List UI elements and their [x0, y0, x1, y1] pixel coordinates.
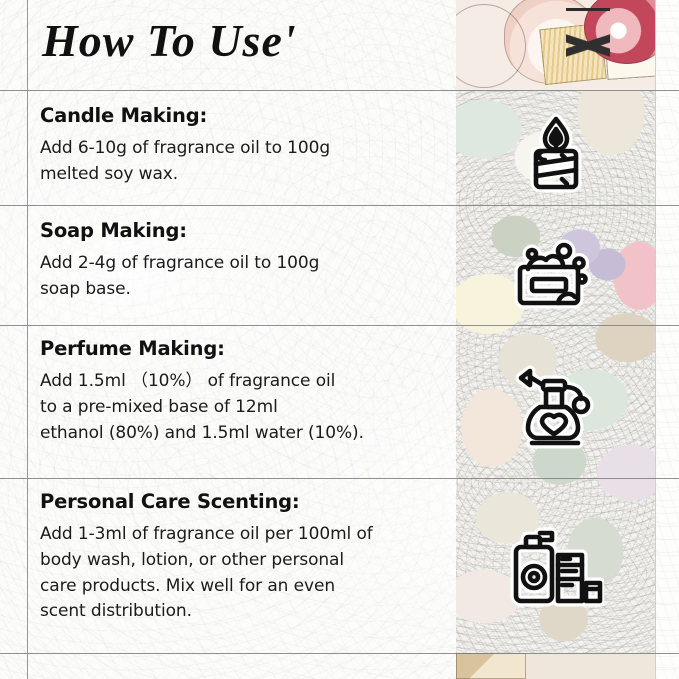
top-photo-band	[456, 0, 655, 90]
right-illustration-column	[456, 0, 655, 679]
section-candle-making: Candle Making: Add 6-10g of fragrance oi…	[40, 104, 440, 188]
section-heading: Perfume Making:	[40, 337, 440, 360]
scissors-photo	[566, 0, 610, 88]
section-personal-care-scenting: Personal Care Scenting: Add 1-3ml of fra…	[40, 490, 440, 625]
right-margin-strip	[655, 0, 679, 679]
divider-rule-1	[0, 90, 679, 91]
section-body: Add 1.5ml （10%） of fragrance oil to a pr…	[40, 369, 440, 446]
how-to-use-infographic: How To Use' Candle Making: Add 6-10g of …	[0, 0, 679, 679]
left-margin-rule	[27, 0, 28, 679]
page-title: How To Use'	[42, 14, 297, 67]
divider-rule-3	[0, 325, 679, 326]
section-body: Add 6-10g of fragrance oil to 100g melte…	[40, 136, 440, 188]
section-heading: Personal Care Scenting:	[40, 490, 440, 513]
section-body: Add 2-4g of fragrance oil to 100g soap b…	[40, 251, 440, 303]
bottom-photo-left	[456, 653, 526, 679]
section-perfume-making: Perfume Making: Add 1.5ml （10%） of fragr…	[40, 337, 440, 446]
divider-rule-4	[0, 478, 679, 479]
section-heading: Candle Making:	[40, 104, 440, 127]
section-soap-making: Soap Making: Add 2-4g of fragrance oil t…	[40, 219, 440, 303]
bottom-photo-band	[456, 653, 655, 679]
divider-rule-2	[0, 205, 679, 206]
section-heading: Soap Making:	[40, 219, 440, 242]
botanical-line-art-panel	[456, 90, 655, 653]
divider-rule-5	[0, 653, 679, 654]
section-body: Add 1-3ml of fragrance oil per 100ml of …	[40, 522, 440, 625]
